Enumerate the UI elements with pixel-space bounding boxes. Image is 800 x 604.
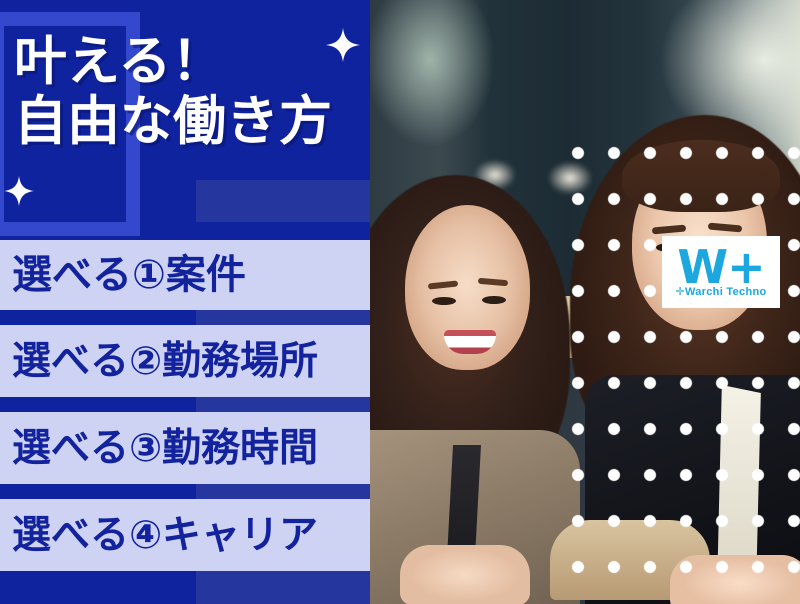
recruitment-banner: W+ ✛Warchi Techno 叶える！ 自由な働き方 選べる①案件 <box>0 0 800 604</box>
logo-subtitle: ✛Warchi Techno <box>675 285 766 298</box>
feature-bar-1[interactable]: 選べる①案件 <box>0 240 370 310</box>
feature-bar-3[interactable]: 選べる③勤務時間 <box>0 412 370 484</box>
feature-bar-4[interactable]: 選べる④キャリア <box>0 499 370 571</box>
person-left-eye-right <box>482 296 506 304</box>
logo-wordmark: W+ <box>677 248 764 287</box>
feature-bar-2[interactable]: 選べる②勤務場所 <box>0 325 370 397</box>
photo-pane: W+ ✛Warchi Techno <box>370 0 800 604</box>
person-left-eye-left <box>432 297 456 305</box>
feature-bar-3-label: 選べる③勤務時間 <box>12 429 318 468</box>
feature-bar-list: 選べる①案件 選べる②勤務場所 選べる③勤務時間 選べる④キャリア <box>0 0 370 604</box>
person-left-hands <box>400 545 530 604</box>
company-logo: W+ ✛Warchi Techno <box>662 236 780 308</box>
person-right-hands <box>670 555 800 604</box>
feature-bar-1-label: 選べる①案件 <box>12 255 246 295</box>
feature-bar-2-label: 選べる②勤務場所 <box>12 342 318 381</box>
feature-bar-4-label: 選べる④キャリア <box>12 516 318 555</box>
person-right-bangs <box>622 140 780 212</box>
